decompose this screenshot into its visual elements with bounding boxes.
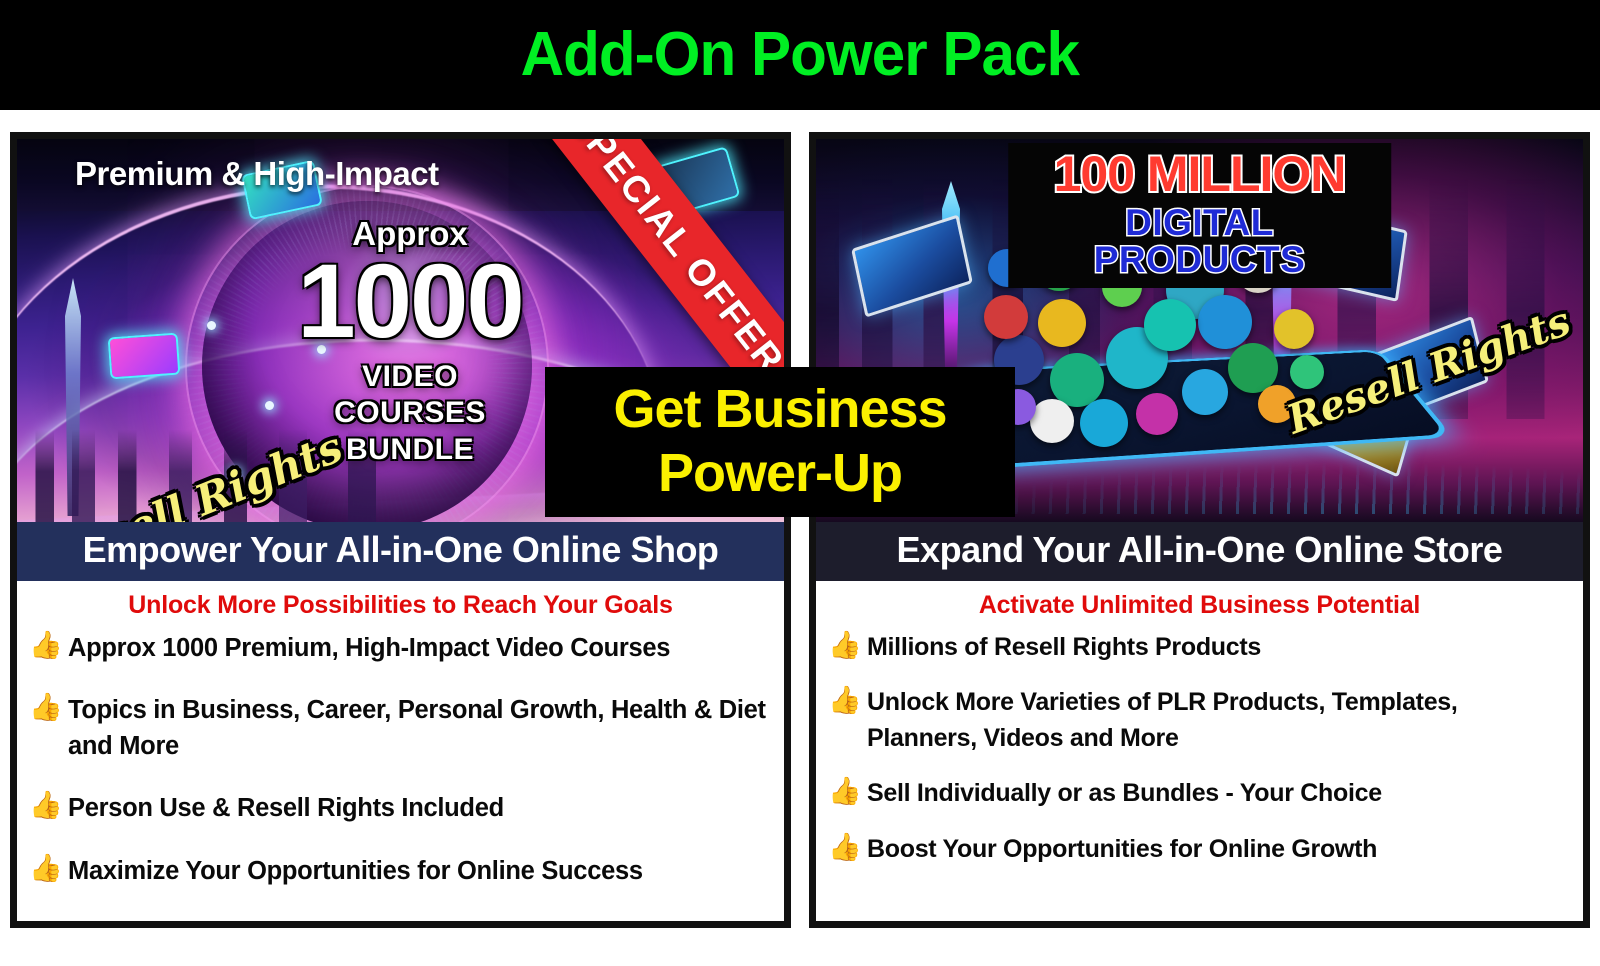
hero-caption: Premium & High-Impact [75,155,439,193]
center-cta-overlay: Get Business Power-Up [545,367,1015,517]
list-item: 👍 Boost Your Opportunities for Online Gr… [828,832,1571,868]
page-title: Add-On Power Pack [521,24,1079,86]
thumbs-up-icon: 👍 [828,687,859,718]
left-card-title: Empower Your All-in-One Online Shop [17,522,784,581]
list-item-label: Topics in Business, Career, Personal Gro… [68,692,772,764]
list-item: 👍 Millions of Resell Rights Products [828,630,1571,666]
node-dot-icon [207,321,216,330]
right-card-title: Expand Your All-in-One Online Store [816,522,1583,581]
thumbs-up-icon: 👍 [29,632,60,663]
page-header: Add-On Power Pack [0,0,1600,110]
list-item-label: Boost Your Opportunities for Online Grow… [867,832,1377,868]
thumbs-up-icon: 👍 [29,694,60,725]
right-card-body: Activate Unlimited Business Potential 👍 … [816,581,1583,921]
list-item-label: Unlock More Varieties of PLR Products, T… [867,685,1571,756]
thumbs-up-icon: 👍 [29,792,60,823]
cta-line-2: Power-Up [658,442,902,506]
list-item-label: Maximize Your Opportunities for Online S… [68,853,643,889]
list-item: 👍 Maximize Your Opportunities for Online… [29,853,772,889]
left-card-subtitle: Unlock More Possibilities to Reach Your … [29,591,772,620]
product-count-banner: 100 MILLION DIGITAL PRODUCTS [1008,143,1392,288]
product-count-headline: 100 MILLION [1024,149,1376,199]
list-item-label: Approx 1000 Premium, High-Impact Video C… [68,630,670,666]
list-item: 👍 Sell Individually or as Bundles - Your… [828,776,1571,812]
thumbs-up-icon: 👍 [29,855,60,886]
list-item: 👍 Approx 1000 Premium, High-Impact Video… [29,630,772,666]
list-item-label: Sell Individually or as Bundles - Your C… [867,776,1382,812]
bundle-label-line2: COURSES [275,395,545,432]
list-item: 👍 Person Use & Resell Rights Included [29,790,772,826]
node-dot-icon [265,401,274,410]
list-item: 👍 Topics in Business, Career, Personal G… [29,692,772,764]
thumbs-up-icon: 👍 [828,778,859,809]
left-card-body: Unlock More Possibilities to Reach Your … [17,581,784,921]
neon-screen-icon-1 [108,333,181,380]
right-feature-list: 👍 Millions of Resell Rights Products 👍 U… [828,630,1571,868]
list-item-label: Person Use & Resell Rights Included [68,790,504,826]
left-feature-list: 👍 Approx 1000 Premium, High-Impact Video… [29,630,772,889]
right-card-subtitle: Activate Unlimited Business Potential [828,591,1571,620]
offer-card-video-courses[interactable]: Premium & High-Impact Approx 1000 VIDEO … [10,132,791,928]
cards-row: Premium & High-Impact Approx 1000 VIDEO … [0,110,1600,966]
thumbs-up-icon: 👍 [828,632,859,663]
bundle-label-line1: VIDEO [275,359,545,396]
thumbs-up-icon: 👍 [828,834,859,865]
cta-line-1: Get Business [613,378,946,442]
course-count: 1000 [275,252,545,353]
product-count-subheadline: DIGITAL PRODUCTS [1024,204,1376,278]
list-item: 👍 Unlock More Varieties of PLR Products,… [828,685,1571,756]
list-item-label: Millions of Resell Rights Products [867,630,1261,666]
offer-card-digital-products[interactable]: 100 MILLION DIGITAL PRODUCTS Resell Righ… [809,132,1590,928]
